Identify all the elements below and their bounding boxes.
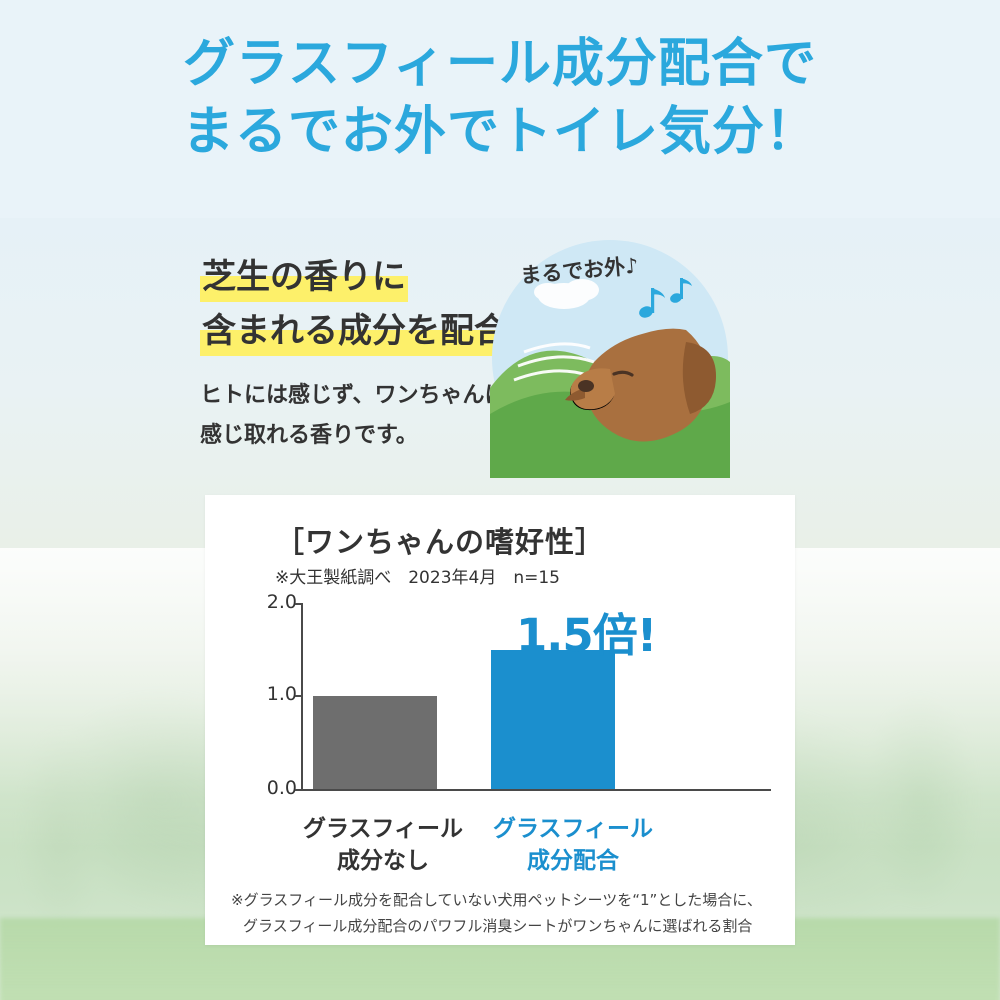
bar-no-grassfeel bbox=[313, 696, 437, 789]
x-axis bbox=[301, 789, 771, 791]
x-label-no-grassfeel: グラスフィール 成分なし bbox=[293, 813, 473, 877]
bar-chart: 2.0 1.0 0.0 1.5倍! bbox=[223, 595, 783, 805]
card-subtitle: ※大王製紙調べ 2023年4月 n=15 bbox=[275, 563, 560, 588]
x-label-a-line2: 成分なし bbox=[337, 848, 429, 874]
feature-title-line-2: 含まれる成分を配合 bbox=[200, 304, 510, 358]
page-headline: グラスフィール成分配合で まるでお外でトイレ気分！ bbox=[0, 30, 1000, 166]
card-title: ［ワンちゃんの嗜好性］ bbox=[275, 519, 605, 561]
bar-with-grassfeel bbox=[491, 650, 615, 790]
y-tick-2: 2.0 bbox=[263, 591, 297, 613]
chart-annotation: 1.5倍! bbox=[516, 599, 656, 664]
x-label-b-line2: 成分配合 bbox=[527, 848, 619, 874]
card-footnote: ※グラスフィール成分を配合していない犬用ペットシーツを“1”とした場合に、 グラ… bbox=[231, 887, 791, 939]
feature-body-line-1: ヒトには感じず、ワンちゃんには bbox=[200, 383, 528, 408]
feature-body-line-2: 感じ取れる香りです。 bbox=[200, 423, 418, 448]
y-tick-0: 0.0 bbox=[263, 777, 297, 799]
x-label-with-grassfeel: グラスフィール 成分配合 bbox=[473, 813, 673, 877]
feature-title-line-1: 芝生の香りに bbox=[200, 250, 408, 304]
survey-card: ［ワンちゃんの嗜好性］ ※大王製紙調べ 2023年4月 n=15 2.0 1.0… bbox=[205, 495, 795, 945]
headline-line-2: まるでお外でトイレ気分！ bbox=[0, 98, 1000, 166]
promo-page: グラスフィール成分配合で まるでお外でトイレ気分！ 芝生の香りに 含まれる成分を… bbox=[0, 0, 1000, 1000]
x-label-a-line1: グラスフィール bbox=[303, 816, 463, 842]
bars-container: 1.5倍! bbox=[301, 603, 771, 789]
footnote-line-2: グラスフィール成分配合のパワフル消臭シートがワンちゃんに選ばれる割合 bbox=[231, 913, 791, 939]
footnote-line-1: ※グラスフィール成分を配合していない犬用ペットシーツを“1”とした場合に、 bbox=[231, 891, 762, 909]
headline-line-1: グラスフィール成分配合で bbox=[183, 34, 817, 94]
x-label-b-line1: グラスフィール bbox=[493, 816, 653, 842]
y-tick-1: 1.0 bbox=[263, 683, 297, 705]
